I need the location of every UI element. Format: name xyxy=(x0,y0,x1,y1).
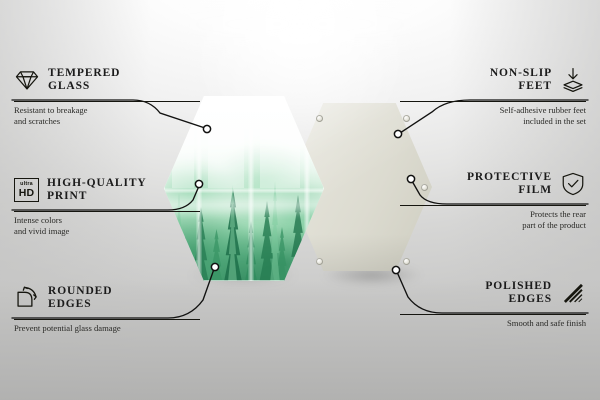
feature-tempered-glass: TEMPERED GLASS Resistant to breakage and… xyxy=(14,60,200,126)
diamond-gem-icon xyxy=(14,67,40,93)
feature-divider xyxy=(14,101,200,102)
connector-endpoint-dot xyxy=(392,266,399,273)
press-down-pad-icon xyxy=(560,67,586,93)
feature-protective-film: PROTECTIVE FILM Protects the rear part o… xyxy=(400,164,586,230)
feature-divider xyxy=(400,101,586,102)
infographic-canvas: TEMPERED GLASS Resistant to breakage and… xyxy=(0,0,600,400)
feature-description: Self-adhesive rubber feet included in th… xyxy=(400,105,586,126)
feature-header: PROTECTIVE FILM xyxy=(400,164,586,204)
diagonal-hatch-lines-icon xyxy=(560,280,586,306)
feature-title: TEMPERED GLASS xyxy=(48,67,120,94)
feature-divider xyxy=(14,211,200,212)
feature-description: Intense colors and vivid image xyxy=(14,215,200,236)
badge-hd-label: HD xyxy=(19,188,35,199)
feature-description: Smooth and safe finish xyxy=(400,318,586,329)
feature-title: HIGH-QUALITY PRINT xyxy=(47,177,147,204)
feature-header: NON-SLIP FEET xyxy=(400,60,586,100)
feature-high-quality-print: ultra HD HIGH-QUALITY PRINT Intense colo… xyxy=(14,170,200,236)
feature-description: Prevent potential glass damage xyxy=(14,323,200,334)
feature-non-slip-feet: NON-SLIP FEET Self-adhesive rubber feet … xyxy=(400,60,586,126)
connector-endpoint-dot xyxy=(211,263,218,270)
feature-divider xyxy=(400,314,586,315)
feature-rounded-edges: ROUNDED EDGES Prevent potential glass da… xyxy=(14,278,200,334)
feature-description: Protects the rear part of the product xyxy=(400,209,586,230)
feature-description: Resistant to breakage and scratches xyxy=(14,105,200,126)
shield-check-icon xyxy=(560,171,586,197)
rounded-corner-arrow-icon xyxy=(14,285,40,311)
feature-header: ROUNDED EDGES xyxy=(14,278,200,318)
feature-polished-edges: POLISHED EDGES Smooth and safe finish xyxy=(400,273,586,329)
connector-endpoint-dot xyxy=(394,130,401,137)
feature-divider xyxy=(14,319,200,320)
feature-title: ROUNDED EDGES xyxy=(48,285,112,312)
feature-title: NON-SLIP FEET xyxy=(490,67,552,94)
feature-divider xyxy=(400,205,586,206)
feature-header: ultra HD HIGH-QUALITY PRINT xyxy=(14,170,200,210)
ultra-hd-badge-icon: ultra HD xyxy=(14,178,39,202)
connector-endpoint-dot xyxy=(203,125,210,132)
feature-header: TEMPERED GLASS xyxy=(14,60,200,100)
feature-header: POLISHED EDGES xyxy=(400,273,586,313)
feature-title: POLISHED EDGES xyxy=(485,280,552,307)
feature-title: PROTECTIVE FILM xyxy=(467,171,552,198)
